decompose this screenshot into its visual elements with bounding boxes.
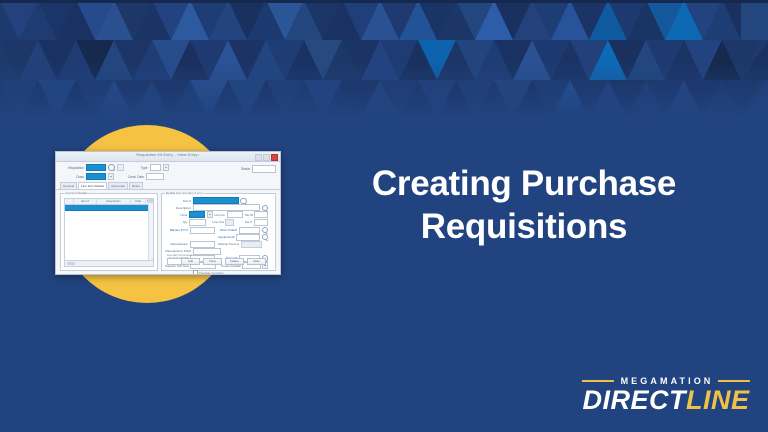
- maximize-icon[interactable]: [263, 154, 270, 161]
- clear-button[interactable]: Clear: [203, 258, 222, 266]
- description-lookup-icon[interactable]: [262, 205, 269, 212]
- grid-vertical-scrollbar[interactable]: [148, 199, 153, 260]
- blanket-po-input[interactable]: [190, 227, 215, 234]
- tax2-label: Tax #2: [245, 220, 253, 224]
- line-item-list-pane: Line Item Details Item # Description Uni…: [60, 193, 158, 271]
- page-title-line-2: Requisitions: [300, 206, 748, 249]
- logo-rule-right: [718, 380, 750, 382]
- tab-general[interactable]: General: [60, 182, 77, 189]
- description-label: Description: [165, 206, 191, 210]
- minimize-icon[interactable]: [255, 154, 262, 161]
- type-label: Type: [132, 166, 148, 170]
- qty-label: Qty: [165, 220, 187, 224]
- requisition-lookup-icon[interactable]: [108, 164, 115, 171]
- equipment-label[interactable]: Equipment#: [213, 235, 235, 239]
- class-input[interactable]: [86, 173, 106, 181]
- grid-col-item: Item #: [74, 199, 97, 204]
- creation-date-label: Creat. Date: [122, 175, 144, 179]
- field-row-part: Part #: [165, 198, 268, 204]
- work-order-label[interactable]: Work Order#: [218, 228, 237, 232]
- line-item-grid[interactable]: Item # Description Units Qty: [64, 198, 154, 261]
- tax2-input[interactable]: [254, 219, 268, 226]
- line-total-label: Line Total: [212, 220, 223, 224]
- form-action-buttons[interactable]: Add Clear Delete Save: [181, 258, 266, 266]
- form-header-toolbar: Requisition Type Class Creat. Date S: [56, 162, 280, 182]
- blanket-po-label[interactable]: Blanket P.O.#: [165, 228, 188, 232]
- page-title: Creating Purchase Requisitions: [300, 163, 748, 248]
- grid-col-description: Description: [97, 199, 131, 204]
- units-chevron-down-icon[interactable]: [207, 211, 213, 218]
- requisition-label: Requisition: [60, 166, 84, 170]
- field-row-purchase-complete: Purchase Complete: [165, 270, 268, 275]
- work-order-input[interactable]: [239, 227, 260, 234]
- grid-col-units: Units: [131, 199, 146, 204]
- window-controls[interactable]: [255, 154, 278, 161]
- tab-line-item-details[interactable]: Line Item Details: [78, 182, 107, 189]
- status-area: Status: [241, 165, 276, 173]
- status-badge: [252, 165, 276, 173]
- purchase-complete-checkbox[interactable]: [193, 270, 198, 275]
- status-label: Status: [241, 167, 250, 171]
- field-row-units-unitcost-tax1: Units Unit Cost Tax #1: [165, 212, 268, 218]
- page-title-line-1: Creating Purchase: [300, 163, 748, 206]
- field-row-description: Description: [165, 205, 268, 211]
- part-number-input[interactable]: [193, 197, 239, 204]
- class-chevron-down-icon[interactable]: [108, 173, 114, 180]
- header-row-2: Class Creat. Date: [60, 173, 276, 180]
- background-triangle-pattern: [0, 0, 768, 118]
- tab-bar[interactable]: General Line Item Details Approvals Note…: [56, 182, 280, 190]
- requisition-input[interactable]: [86, 164, 106, 172]
- field-row-blanket-workorder: Blanket P.O.# Work Order#: [165, 227, 268, 233]
- qty-input[interactable]: [189, 219, 206, 226]
- unit-cost-input[interactable]: [227, 211, 244, 218]
- class-label: Class: [60, 175, 84, 179]
- part-number-lookup-icon[interactable]: [240, 198, 247, 205]
- line-total-value: [225, 219, 234, 226]
- line-item-detail-legend: Details For Line Item 1 of 1: [165, 191, 203, 195]
- requisition-new-icon[interactable]: [117, 164, 124, 172]
- save-button[interactable]: Save: [247, 258, 266, 266]
- manufacturer-part-input[interactable]: [193, 248, 221, 255]
- close-icon[interactable]: [271, 154, 278, 161]
- work-order-lookup-icon[interactable]: [262, 227, 269, 234]
- window-titlebar: Requisition Kit Entry - <New Entry>: [56, 152, 280, 162]
- type-chevron-down-icon[interactable]: [163, 164, 169, 171]
- purchase-complete-label: Purchase Complete: [199, 271, 224, 275]
- grid-pager-thumb[interactable]: [67, 262, 75, 265]
- logo-line-text: LINE: [686, 385, 750, 415]
- line-item-detail-pane: Details For Line Item 1 of 1 Part # Desc…: [161, 193, 276, 271]
- units-label[interactable]: Units: [165, 213, 187, 217]
- markup-percent-label: Markup Percent: [218, 242, 239, 246]
- megamation-directline-logo: MEGAMATION DIRECTLINE: [582, 376, 750, 414]
- part-number-label: Part #: [165, 199, 191, 203]
- field-row-manufacturer-markup: Manufacturer Markup Percent: [165, 241, 268, 247]
- grid-scroll-thumb[interactable]: [149, 199, 153, 203]
- field-row-equipment: Equipment#: [165, 234, 268, 240]
- field-row-qty-linetotal-tax2: Qty Line Total Tax #2: [165, 219, 268, 225]
- line-item-list-legend: Line Item Details: [64, 191, 88, 195]
- unit-cost-label: Unit Cost: [214, 213, 225, 217]
- line-item-detail-form: Part # Description Units: [165, 198, 268, 267]
- units-select[interactable]: [189, 211, 206, 218]
- tax1-label: Tax #1: [245, 213, 253, 217]
- tab-content-area: Line Item Details Item # Description Uni…: [56, 190, 280, 274]
- tax1-input[interactable]: [254, 211, 268, 218]
- description-input[interactable]: [193, 204, 261, 211]
- markup-percent-value: [241, 241, 263, 248]
- top-edge-rule: [0, 0, 768, 3]
- delete-button[interactable]: Delete: [225, 258, 244, 266]
- app-screenshot-thumbnail: Requisition Kit Entry - <New Entry> Requ…: [55, 151, 281, 275]
- manufacturer-label: Manufacturer: [165, 242, 188, 246]
- logo-direct-text: DIRECT: [582, 385, 686, 415]
- type-select[interactable]: [150, 164, 161, 172]
- grid-col-select: [65, 199, 74, 204]
- equipment-lookup-icon[interactable]: [262, 234, 269, 241]
- grid-pager-footer[interactable]: [64, 260, 154, 267]
- line-item-comment-label: Line Item Comment: [167, 253, 191, 257]
- tab-notes[interactable]: Notes: [129, 182, 143, 189]
- table-row[interactable]: [65, 205, 153, 211]
- logo-rule-left: [582, 380, 614, 382]
- equipment-input[interactable]: [236, 234, 260, 241]
- window-body: Requisition Type Class Creat. Date S: [56, 162, 280, 275]
- window-title: Requisition Kit Entry - <New Entry>: [56, 153, 280, 157]
- manufacturer-input[interactable]: [190, 241, 215, 248]
- logo-main-wordmark: DIRECTLINE: [582, 387, 750, 414]
- slide-root: Requisition Kit Entry - <New Entry> Requ…: [0, 0, 768, 432]
- add-button[interactable]: Add: [181, 258, 200, 266]
- creation-date-input[interactable]: [146, 173, 164, 181]
- tab-approvals[interactable]: Approvals: [108, 182, 128, 189]
